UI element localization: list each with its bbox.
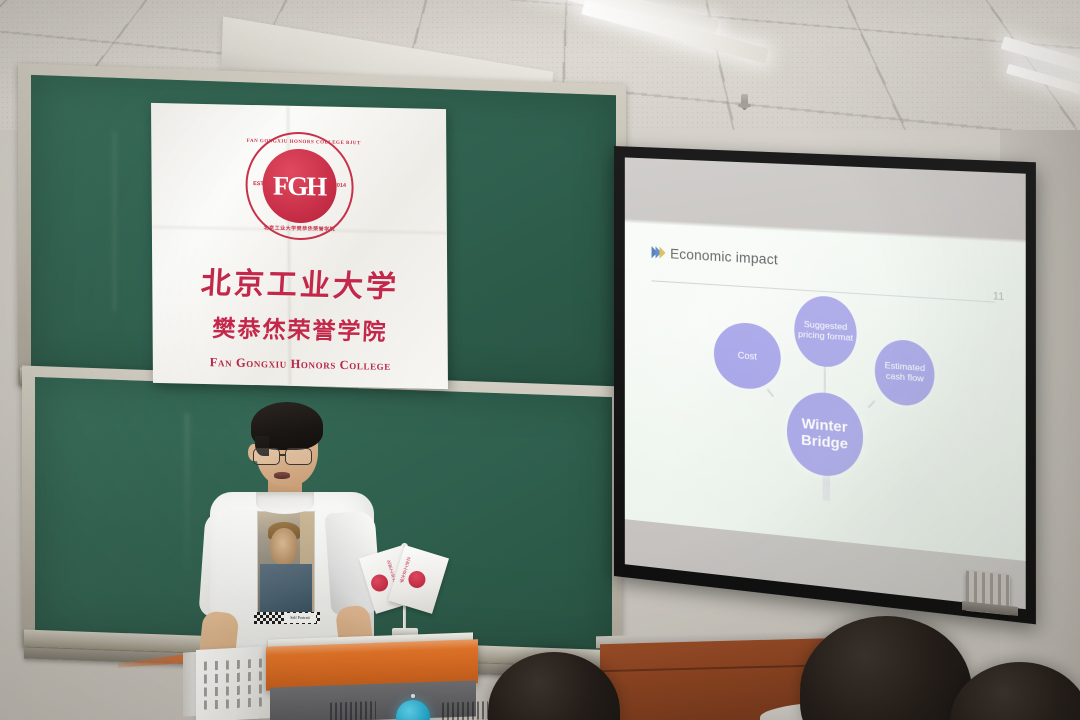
diagram-connector: [766, 389, 774, 398]
diagram-connector: [868, 400, 876, 408]
chalk-smudge: [113, 131, 116, 311]
glasses-lens-right: [285, 448, 312, 465]
slide-header: Economic impact: [651, 245, 778, 268]
bubble-cost: Cost: [714, 321, 780, 391]
screen-frame: Economic impact 11 Cost Suggested pricin…: [614, 146, 1036, 624]
slide-page-number: 11: [993, 291, 1005, 303]
presenter-shirt-print-caption: Self Portrait: [284, 613, 316, 623]
presenter-shirt-print: [258, 512, 314, 612]
presenter-hair: [251, 402, 323, 450]
seal-year-label: 2014: [334, 183, 346, 189]
chevron-right-icon: [659, 247, 665, 259]
computer-vent: [442, 701, 488, 720]
equipment-cabinet: [196, 646, 272, 720]
computer-power-led: [411, 694, 415, 698]
banner-college-name-en: Fan Gongxiu Honors College: [210, 355, 391, 374]
classroom-scene: FAN GONGXIU HONORS COLLEGE BJUT EST 2014…: [0, 0, 1080, 720]
college-seal-icon: FAN GONGXIU HONORS COLLEGE BJUT EST 2014…: [245, 131, 354, 241]
flag-seal-icon: [406, 568, 427, 589]
banner-university-name-cn: 北京工业大学: [199, 258, 400, 306]
print-portrait-coat: [260, 564, 312, 612]
seal-arc-top-text: FAN GONGXIU HONORS COLLEGE BJUT: [247, 139, 351, 146]
seal-est-label: EST: [253, 181, 264, 187]
presentation-slide: Economic impact 11 Cost Suggested pricin…: [625, 223, 1026, 562]
presenter-collar: [256, 492, 314, 514]
banner-college-name-cn: 樊恭烋荣誉学院: [212, 309, 389, 347]
screen-surface: Economic impact 11 Cost Suggested pricin…: [625, 157, 1026, 609]
sprinkler-head-icon: [741, 94, 748, 110]
chevron-right-icon-group: [651, 246, 663, 259]
projection-screen: Economic impact 11 Cost Suggested pricin…: [614, 146, 1036, 624]
presenter-mouth: [274, 472, 290, 479]
slide-title: Economic impact: [670, 246, 778, 267]
bubble-suggested-pricing-format: Suggested pricing format: [794, 294, 856, 369]
bubble-estimated-cash-flow: Estimated cash flow: [875, 338, 935, 408]
seal-monogram: FGH: [262, 148, 337, 224]
glasses-icon: [251, 448, 321, 465]
glasses-lens-left: [253, 448, 280, 465]
banner: FAN GONGXIU HONORS COLLEGE BJUT EST 2014…: [151, 103, 448, 389]
cabinet-vent-slots: [204, 658, 264, 713]
print-portrait-face: [270, 528, 298, 566]
computer-vent: [330, 701, 376, 720]
flag-seal-icon: [369, 572, 390, 593]
seal-arc-bottom-text: 北京工业大学樊恭烋荣誉学院: [247, 224, 351, 233]
